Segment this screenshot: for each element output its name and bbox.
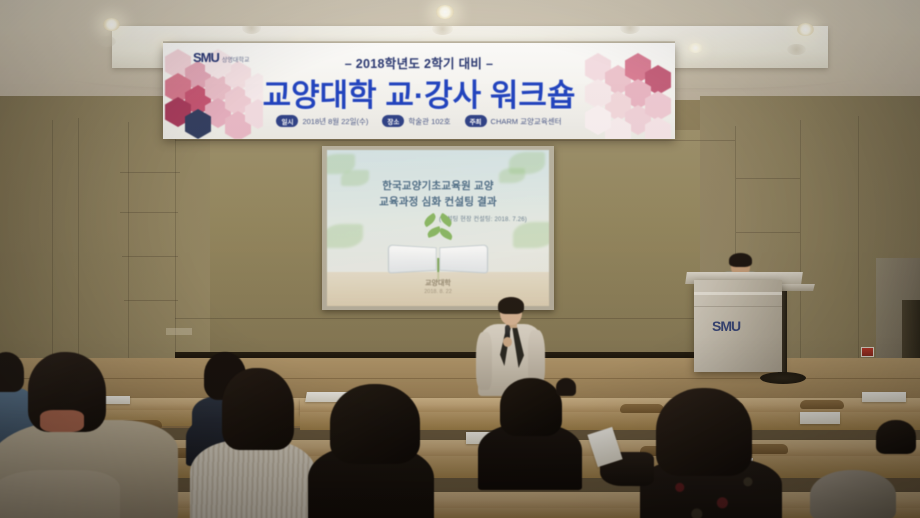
slide-footer-date: 2018. 8. 22 [327,288,549,297]
audience-torso [0,470,120,518]
book-page-left [388,244,437,273]
banner-meta-item: 일시 2018년 8월 22일(수) [276,115,368,127]
audience-hair [876,420,916,454]
ceiling-downlight [797,23,814,36]
ceiling-downlight [620,22,640,34]
handout-paper[interactable] [862,392,906,402]
chair-backrest[interactable] [800,400,844,409]
podium-front-seam [694,306,782,307]
chair-backrest[interactable] [620,404,664,413]
wall-panel-seam [120,172,180,173]
lecture-hall-photo: SMU 상명대학교 – 2018학년도 2학기 대비 – 교양대학 교·강사 워… [0,0,920,518]
wall-panel-seam [800,120,801,370]
ceiling-downlight [436,5,454,19]
audience-hair [810,470,896,518]
wall-panel-seam [858,116,859,370]
slide-footer: 교양대학 2018. 8. 22 [327,279,549,297]
wall-panel-seam [52,120,53,370]
slide-note: (컨설팅 현장 컨설팅: 2018. 7.26) [439,214,527,223]
ceiling-downlight [242,22,261,34]
banner-title: 교양대학 교·강사 워크숍 [163,70,675,115]
handout-paper[interactable] [800,412,840,424]
ceiling-downlight [103,18,120,31]
slide-title-line1: 한국교양기초교육원 교양 [327,178,549,194]
slide-open-book-icon [390,246,486,272]
speaker-arm-left [476,332,492,390]
banner-meta-tag: 일시 [276,115,298,127]
banner-meta-item: 장소 학술관 102호 [382,115,450,127]
slide-title: 한국교양기초교육원 교양 교육과정 심화 컨설팅 결과 [327,178,549,210]
event-banner: SMU 상명대학교 – 2018학년도 2학기 대비 – 교양대학 교·강사 워… [163,43,675,139]
ceiling-downlight [432,23,453,35]
projection-screen: 한국교양기초교육원 교양 교육과정 심화 컨설팅 결과 (컨설팅 현장 컨설팅:… [327,150,549,306]
banner-meta-row: 일시 2018년 8월 22일(수) 장소 학술관 102호 주최 CHARM … [163,115,675,127]
fire-safety-sign-icon [861,347,874,357]
slide-leaf-decor [513,222,549,248]
podium-base-foot [760,372,806,384]
wall-panel-seam [124,300,178,301]
audience-hair [556,378,576,396]
left-wall [0,96,210,396]
audience-neck [40,410,84,432]
podium-person-hair [729,253,752,267]
wall-panel-seam [736,232,800,233]
banner-meta-text: CHARM 교양교육센터 [491,116,562,127]
wall-panel-seam [122,256,178,257]
podium-smu-logo: SMU [712,318,740,334]
wall-panel-seam [78,118,79,370]
book-page-right [439,244,488,273]
ceiling-downlight [688,43,703,53]
wall-panel-seam [175,318,735,319]
banner-meta-tag: 장소 [382,115,404,127]
banner-meta-text: 2018년 8월 22일(수) [302,116,368,127]
speaker-hair [498,297,524,314]
slide-footer-org: 교양대학 [327,279,549,288]
banner-meta-text: 학술관 102호 [408,116,450,127]
ceiling-downlight [787,44,806,55]
audience-hair [222,368,294,450]
audience-torso [190,440,316,518]
audience-hair [330,384,420,464]
banner-meta-tag: 주최 [465,115,487,127]
wall-panel-seam [128,122,129,370]
slide-title-line2: 교육과정 심화 컨설팅 결과 [327,194,549,210]
audience-hair [656,388,752,476]
wall-panel-seam [120,212,178,213]
banner-meta-item: 주최 CHARM 교양교육센터 [465,115,562,127]
wall-panel-seam [175,140,735,141]
speaker-hand [503,337,512,347]
podium-front-lip [694,292,782,295]
audience-hair [500,378,562,436]
wall-signage [166,328,192,335]
wall-panel-seam [736,178,800,179]
ceiling-downlight [98,36,116,47]
